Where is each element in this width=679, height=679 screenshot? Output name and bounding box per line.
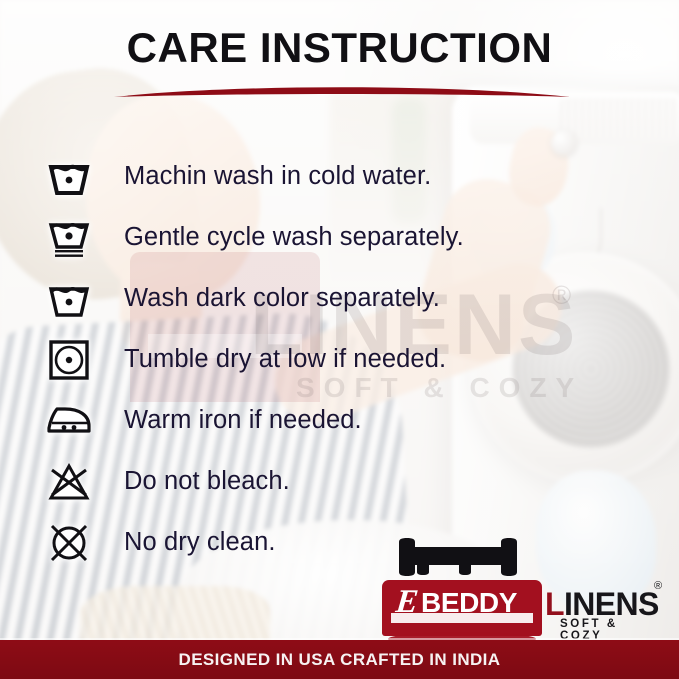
footer-banner: DESIGNED IN USA CRAFTED IN INDIA [0,640,679,679]
instruction-label: No dry clean. [124,528,276,557]
instruction-list: Machin wash in cold water. Gentle cycle … [44,146,644,573]
beddy-badge: E BEDDY [382,580,542,636]
instruction-label: Tumble dry at low if needed. [124,345,446,374]
care-instruction-card: LINENS ® SOFT & COZY CARE INSTRUCTION Ma… [0,0,679,679]
do-not-bleach-icon [44,459,94,505]
logo-brand-name: BEDDY [421,587,517,619]
title-underline-flourish [112,86,572,100]
brand-logo: E BEDDY LINENS ® SOFT & COZY [382,538,662,638]
instruction-label: Gentle cycle wash separately. [124,223,464,252]
logo-monogram: E [394,584,420,621]
instruction-row: Machin wash in cold water. [44,146,644,207]
instruction-label: Wash dark color separately. [124,284,440,313]
instruction-row: Warm iron if needed. [44,390,644,451]
instruction-row: Tumble dry at low if needed. [44,329,644,390]
instruction-label: Do not bleach. [124,467,290,496]
tumble-dry-low-icon [44,337,94,383]
bed-frame-icon [399,538,517,582]
no-dry-clean-icon [44,520,94,566]
wash-tub-icon [44,276,94,322]
logo-linens-rest: INENS [564,586,659,622]
page-title: CARE INSTRUCTION [0,24,679,72]
instruction-row: Gentle cycle wash separately. [44,207,644,268]
iron-warm-icon [44,398,94,444]
wash-tub-gentle-cycle-icon [44,215,94,261]
logo-linens-lead: L [545,586,564,622]
instruction-row: Do not bleach. [44,451,644,512]
registered-trademark-icon: ® [654,580,662,592]
wash-tub-cold-icon [44,154,94,200]
instruction-label: Machin wash in cold water. [124,162,431,191]
instruction-row: Wash dark color separately. [44,268,644,329]
instruction-label: Warm iron if needed. [124,406,362,435]
footer-banner-text: DESIGNED IN USA CRAFTED IN INDIA [179,650,501,670]
